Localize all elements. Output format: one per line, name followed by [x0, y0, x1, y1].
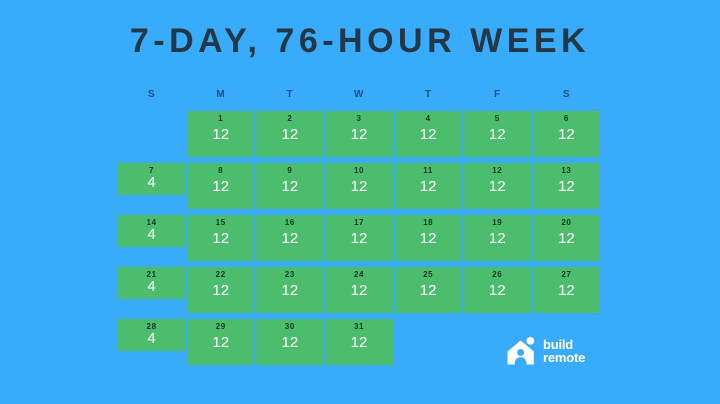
weekday-header-row: S M T W T F S — [118, 86, 600, 104]
calendar-cell-daynumber: 20 — [533, 218, 600, 227]
calendar-cell-daynumber: 17 — [325, 218, 392, 227]
calendar-cell-daynumber: 2 — [256, 114, 323, 123]
calendar-cell-day[interactable]: 612 — [533, 111, 600, 157]
calendar-cell-daynumber: 31 — [325, 322, 392, 331]
calendar-cell-hours: 12 — [325, 335, 392, 351]
calendar-cell-daynumber: 26 — [464, 270, 531, 279]
calendar-cell-hours: 12 — [187, 231, 254, 247]
calendar-cell-hours: 12 — [464, 231, 531, 247]
calendar-cell-hours: 4 — [118, 175, 185, 191]
logo-wordmark: build remote — [543, 338, 585, 364]
calendar-cell-day[interactable]: 74 — [118, 163, 185, 195]
calendar-cell-daynumber: 18 — [395, 218, 462, 227]
calendar-cell-day[interactable]: 1812 — [395, 215, 462, 261]
weekday-label-wed: W — [325, 86, 392, 104]
calendar-cell-daynumber: 27 — [533, 270, 600, 279]
calendar-cell-daynumber: 11 — [395, 166, 462, 175]
poster-canvas: 7-DAY, 76-HOUR WEEK S M T W T F S 112212… — [0, 0, 720, 404]
calendar-cell-day[interactable]: 2712 — [533, 267, 600, 313]
calendar-cell-day[interactable]: 212 — [256, 111, 323, 157]
calendar-weeks: 1122123124125126127481291210121112121213… — [118, 111, 600, 365]
calendar-cell-daynumber: 9 — [256, 166, 323, 175]
calendar-cell-daynumber: 12 — [464, 166, 531, 175]
calendar-cell-hours: 12 — [325, 283, 392, 299]
calendar-cell-day[interactable]: 1312 — [533, 163, 600, 209]
calendar-cell-daynumber: 10 — [325, 166, 392, 175]
calendar-cell-hours: 4 — [118, 279, 185, 295]
calendar-cell-empty — [395, 319, 462, 365]
calendar-cell-day[interactable]: 2412 — [325, 267, 392, 313]
calendar-cell-hours: 12 — [256, 127, 323, 143]
page-title: 7-DAY, 76-HOUR WEEK — [0, 24, 720, 58]
calendar-cell-day[interactable]: 284 — [118, 319, 185, 351]
calendar-cell-hours: 12 — [533, 231, 600, 247]
calendar-cell-day[interactable]: 3012 — [256, 319, 323, 365]
calendar-cell-hours: 4 — [118, 227, 185, 243]
logo-line-remote: remote — [543, 351, 585, 364]
calendar-cell-daynumber: 16 — [256, 218, 323, 227]
calendar-week-row: 748129121012111212121312 — [118, 163, 600, 209]
calendar-cell-day[interactable]: 1112 — [395, 163, 462, 209]
calendar-cell-day[interactable]: 1612 — [256, 215, 323, 261]
calendar-cell-day[interactable]: 1712 — [325, 215, 392, 261]
calendar-cell-daynumber: 30 — [256, 322, 323, 331]
calendar-cell-day[interactable]: 112 — [187, 111, 254, 157]
calendar-cell-hours: 12 — [187, 179, 254, 195]
weekday-label-sun: S — [118, 86, 185, 104]
calendar-cell-hours: 12 — [256, 283, 323, 299]
calendar-cell-hours: 12 — [325, 179, 392, 195]
calendar: S M T W T F S 11221231241251261274812912… — [118, 86, 600, 365]
calendar-cell-daynumber: 15 — [187, 218, 254, 227]
calendar-cell-hours: 12 — [533, 127, 600, 143]
calendar-cell-daynumber: 24 — [325, 270, 392, 279]
calendar-cell-daynumber: 4 — [395, 114, 462, 123]
calendar-week-row: 112212312412512612 — [118, 111, 600, 157]
calendar-cell-daynumber: 22 — [187, 270, 254, 279]
calendar-cell-day[interactable]: 1012 — [325, 163, 392, 209]
calendar-cell-hours: 12 — [395, 283, 462, 299]
calendar-cell-day[interactable]: 412 — [395, 111, 462, 157]
calendar-cell-daynumber: 1 — [187, 114, 254, 123]
calendar-cell-day[interactable]: 2912 — [187, 319, 254, 365]
calendar-cell-hours: 12 — [256, 179, 323, 195]
buildremote-logo: build remote — [506, 336, 585, 366]
calendar-cell-hours: 12 — [533, 283, 600, 299]
calendar-cell-daynumber: 13 — [533, 166, 600, 175]
calendar-cell-day[interactable]: 1512 — [187, 215, 254, 261]
calendar-cell-hours: 12 — [325, 231, 392, 247]
calendar-cell-hours: 4 — [118, 331, 185, 347]
calendar-cell-hours: 12 — [464, 179, 531, 195]
calendar-cell-hours: 12 — [256, 335, 323, 351]
calendar-cell-day[interactable]: 2512 — [395, 267, 462, 313]
weekday-label-mon: M — [187, 86, 254, 104]
calendar-cell-empty — [118, 111, 185, 157]
calendar-cell-hours: 12 — [187, 335, 254, 351]
calendar-cell-hours: 12 — [395, 179, 462, 195]
calendar-cell-daynumber: 3 — [325, 114, 392, 123]
calendar-week-row: 214221223122412251226122712 — [118, 267, 600, 313]
calendar-cell-daynumber: 29 — [187, 322, 254, 331]
calendar-cell-day[interactable]: 1912 — [464, 215, 531, 261]
weekday-label-sat: S — [533, 86, 600, 104]
calendar-cell-hours: 12 — [464, 283, 531, 299]
weekday-label-tue: T — [256, 86, 323, 104]
weekday-label-thu: T — [395, 86, 462, 104]
calendar-cell-daynumber: 19 — [464, 218, 531, 227]
calendar-cell-daynumber: 25 — [395, 270, 462, 279]
calendar-cell-hours: 12 — [533, 179, 600, 195]
calendar-cell-day[interactable]: 214 — [118, 267, 185, 299]
calendar-cell-daynumber: 5 — [464, 114, 531, 123]
calendar-cell-hours: 12 — [256, 231, 323, 247]
calendar-cell-hours: 12 — [395, 231, 462, 247]
calendar-cell-hours: 12 — [395, 127, 462, 143]
calendar-cell-hours: 12 — [325, 127, 392, 143]
calendar-cell-day[interactable]: 912 — [256, 163, 323, 209]
calendar-cell-day[interactable]: 2012 — [533, 215, 600, 261]
calendar-cell-day[interactable]: 3112 — [325, 319, 392, 365]
calendar-cell-daynumber: 23 — [256, 270, 323, 279]
calendar-cell-day[interactable]: 312 — [325, 111, 392, 157]
calendar-cell-day[interactable]: 144 — [118, 215, 185, 247]
calendar-cell-day[interactable]: 2612 — [464, 267, 531, 313]
weekday-label-fri: F — [464, 86, 531, 104]
calendar-cell-hours: 12 — [464, 127, 531, 143]
house-person-icon — [506, 336, 536, 366]
calendar-week-row: 144151216121712181219122012 — [118, 215, 600, 261]
calendar-cell-day[interactable]: 2312 — [256, 267, 323, 313]
calendar-cell-hours: 12 — [187, 283, 254, 299]
calendar-cell-day[interactable]: 512 — [464, 111, 531, 157]
calendar-cell-day[interactable]: 2212 — [187, 267, 254, 313]
calendar-cell-daynumber: 6 — [533, 114, 600, 123]
calendar-cell-day[interactable]: 812 — [187, 163, 254, 209]
calendar-cell-hours: 12 — [187, 127, 254, 143]
calendar-cell-day[interactable]: 1212 — [464, 163, 531, 209]
calendar-cell-daynumber: 8 — [187, 166, 254, 175]
